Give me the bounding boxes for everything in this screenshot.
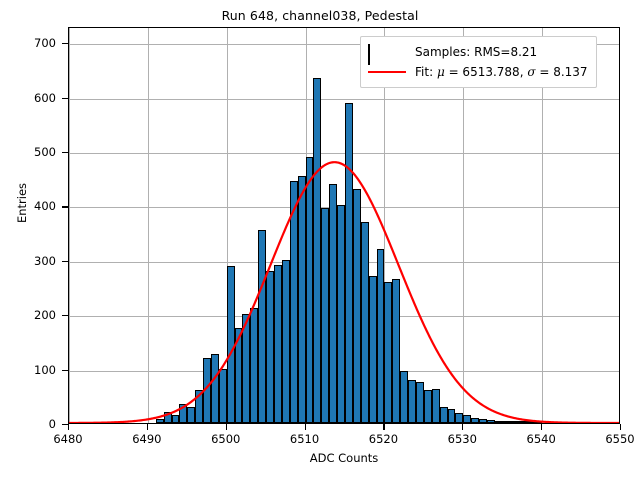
x-tick-label: 6530 bbox=[448, 432, 477, 446]
x-tick-mark bbox=[147, 424, 148, 430]
x-tick-label: 6520 bbox=[369, 432, 398, 446]
x-tick-label: 6490 bbox=[132, 432, 161, 446]
y-tick-label: 700 bbox=[34, 36, 56, 50]
y-tick-label: 300 bbox=[34, 254, 56, 268]
legend-patch-icon bbox=[368, 45, 406, 59]
legend-entry-samples: Samples: RMS=8.21 bbox=[368, 42, 588, 62]
x-tick-label: 6500 bbox=[211, 432, 240, 446]
y-tick-label: 100 bbox=[34, 363, 56, 377]
x-tick-mark bbox=[541, 424, 542, 430]
x-tick-mark bbox=[226, 424, 227, 430]
chart-legend: Samples: RMS=8.21 Fit: μ = 6513.788, σ =… bbox=[360, 36, 597, 88]
y-tick-label: 200 bbox=[34, 308, 56, 322]
legend-label-samples: Samples: RMS=8.21 bbox=[415, 45, 537, 59]
x-tick-mark bbox=[620, 424, 621, 430]
y-tick-mark bbox=[62, 206, 68, 207]
x-tick-mark bbox=[68, 424, 69, 430]
y-tick-label: 0 bbox=[49, 417, 56, 431]
y-tick-label: 600 bbox=[34, 91, 56, 105]
legend-line-icon bbox=[368, 65, 406, 79]
x-tick-label: 6510 bbox=[290, 432, 319, 446]
x-tick-label: 6550 bbox=[605, 432, 634, 446]
chart-title: Run 648, channel038, Pedestal bbox=[0, 8, 640, 23]
y-tick-mark bbox=[62, 370, 68, 371]
y-tick-mark bbox=[62, 152, 68, 153]
y-tick-label: 400 bbox=[34, 199, 56, 213]
x-tick-label: 6540 bbox=[527, 432, 556, 446]
x-axis-label: ADC Counts bbox=[68, 451, 620, 465]
y-tick-mark bbox=[62, 315, 68, 316]
x-tick-mark bbox=[383, 424, 384, 430]
chart-figure: Run 648, channel038, Pedestal 0100200300… bbox=[0, 0, 640, 480]
x-tick-mark bbox=[305, 424, 306, 430]
y-tick-mark bbox=[62, 43, 68, 44]
y-axis-label: Entries bbox=[15, 103, 29, 303]
y-tick-mark bbox=[62, 98, 68, 99]
y-tick-mark bbox=[62, 261, 68, 262]
y-tick-label: 500 bbox=[34, 145, 56, 159]
legend-label-fit: Fit: μ = 6513.788, σ = 8.137 bbox=[415, 65, 588, 79]
x-tick-label: 6480 bbox=[53, 432, 82, 446]
legend-entry-fit: Fit: μ = 6513.788, σ = 8.137 bbox=[368, 62, 588, 82]
x-tick-mark bbox=[462, 424, 463, 430]
